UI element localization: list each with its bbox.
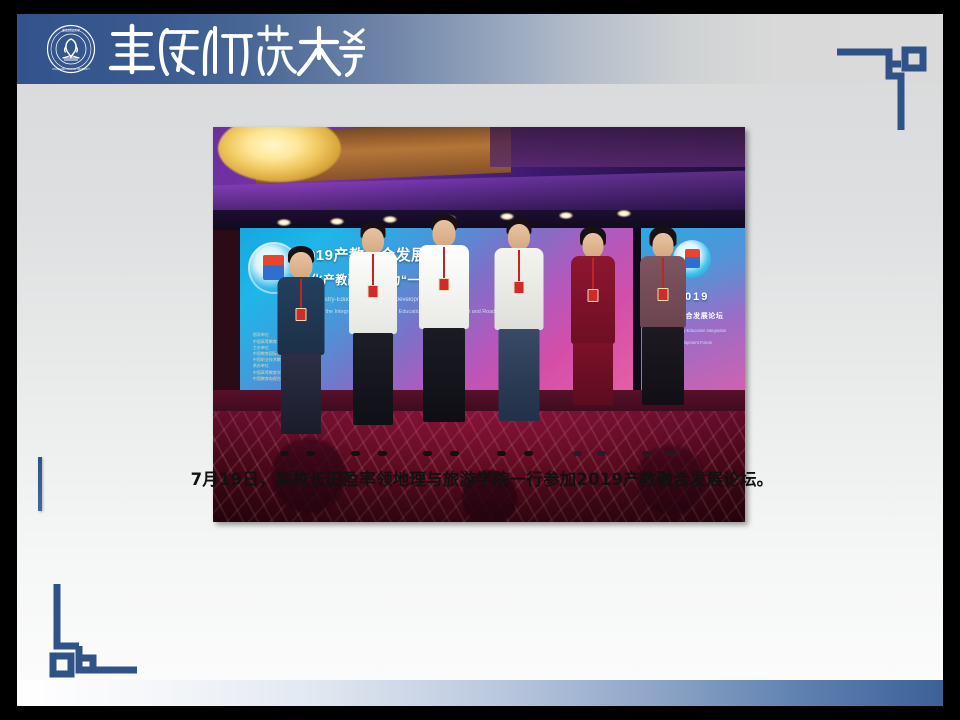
slide-caption: 7月19日，副校长田盈率领地理与旅游学院一行参加2019产教融合发展论坛。 — [77, 466, 887, 490]
university-name-title — [105, 18, 365, 80]
decorative-corner-bottom-left-icon — [31, 584, 147, 694]
presentation-slide: 重庆师范大学 CHONGQING NORMAL UNIVERSITY — [17, 14, 943, 706]
slide-canvas: 重庆师范大学 CHONGQING NORMAL UNIVERSITY — [0, 0, 960, 720]
person-figure — [631, 226, 695, 451]
caption-accent-rule — [38, 457, 42, 511]
svg-text:重庆师范大学: 重庆师范大学 — [62, 28, 80, 33]
person-figure — [341, 222, 405, 451]
university-name-calligraphy — [105, 18, 365, 80]
person-figure — [413, 214, 477, 451]
person-figure — [561, 226, 625, 451]
person-figure — [487, 218, 551, 451]
person-figure — [269, 246, 333, 451]
chandelier-secondary-icon — [282, 131, 356, 174]
conference-group-photo: 2019产教融合发展论坛 深化产教融合 助力“一带一路” 2019 Indust… — [213, 127, 745, 522]
slide-header-band: 重庆师范大学 CHONGQING NORMAL UNIVERSITY — [17, 14, 943, 84]
decorative-corner-top-right-icon — [827, 30, 943, 130]
spot-light — [559, 212, 573, 219]
slide-footer-bar — [17, 680, 943, 706]
university-seal-icon: 重庆师范大学 CHONGQING NORMAL UNIVERSITY — [46, 24, 96, 74]
svg-text:CHONGQING NORMAL UNIVERSITY: CHONGQING NORMAL UNIVERSITY — [52, 68, 90, 71]
ceiling-panel-right — [490, 127, 745, 167]
